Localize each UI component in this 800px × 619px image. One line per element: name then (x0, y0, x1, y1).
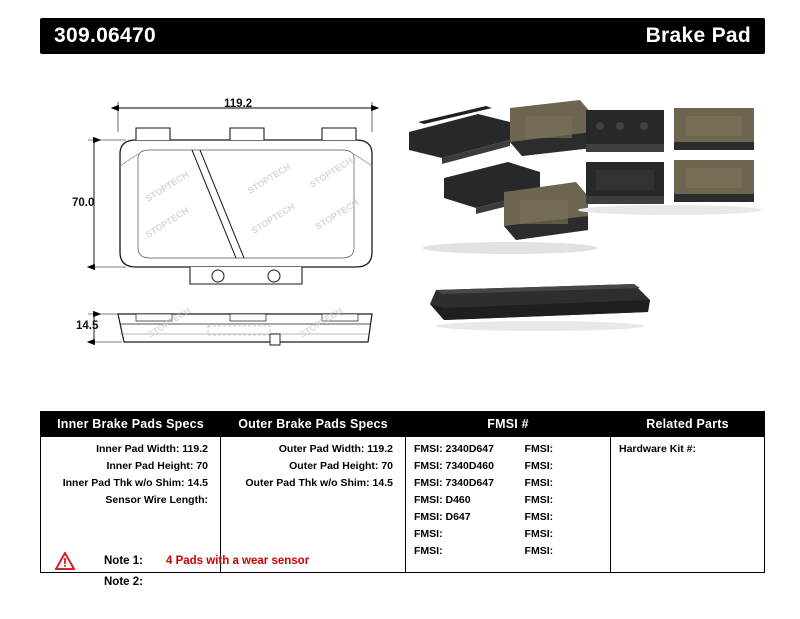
spec-line: Outer Pad Thk w/o Shim: 14.5 (227, 477, 399, 489)
header-bar: 309.06470 Brake Pad (40, 18, 765, 54)
pad-photo-group-left (409, 100, 598, 254)
hardware-kit-line: Hardware Kit #: (611, 443, 764, 455)
fmsi-left-value: FMSI: 7340D647 (406, 477, 517, 489)
fmsi-row: FMSI: 7340D647 FMSI: (406, 477, 610, 489)
spec-line: Inner Pad Width: 119.2 (47, 443, 214, 455)
fmsi-column: FMSI # FMSI: 2340D647 FMSI: FMSI: 7340D4… (406, 412, 611, 572)
note-row-1: Note 1: 4 Pads with a wear sensor (40, 550, 540, 571)
spec-line: Outer Pad Width: 119.2 (227, 443, 399, 455)
note-row-2: Note 2: (40, 571, 540, 592)
related-parts-body: Hardware Kit #: (611, 437, 764, 571)
fmsi-right-value: FMSI: (517, 460, 610, 472)
outer-pads-column: Outer Brake Pads Specs Outer Pad Width: … (221, 412, 406, 572)
dimension-height-label: 70.0 (72, 197, 94, 209)
spec-line: Outer Pad Height: 70 (227, 460, 399, 472)
pad-photo-group-right (578, 108, 762, 215)
page-title: Brake Pad (646, 24, 751, 48)
warning-icon (52, 552, 78, 570)
fmsi-heading: FMSI # (406, 412, 610, 437)
fmsi-row: FMSI: FMSI: (406, 528, 610, 540)
fmsi-row: FMSI: D460 FMSI: (406, 494, 610, 506)
spec-line: Sensor Wire Length: (47, 494, 214, 506)
drawing-area: 119.2 70.0 14.5 (40, 62, 765, 392)
dimension-thickness-label: 14.5 (76, 320, 98, 332)
fmsi-row: FMSI: 2340D647 FMSI: (406, 443, 610, 455)
specs-table: Inner Brake Pads Specs Inner Pad Width: … (40, 411, 765, 573)
related-parts-heading: Related Parts (611, 412, 764, 437)
dimension-width-label: 119.2 (224, 98, 252, 110)
fmsi-row: FMSI: D647 FMSI: (406, 511, 610, 523)
spec-line: Inner Pad Thk w/o Shim: 14.5 (47, 477, 214, 489)
fmsi-right-value: FMSI: (517, 443, 610, 455)
fmsi-left-value: FMSI: 2340D647 (406, 443, 517, 455)
fmsi-left-value: FMSI: 7340D460 (406, 460, 517, 472)
fmsi-right-value: FMSI: (517, 477, 610, 489)
related-parts-column: Related Parts Hardware Kit #: (611, 412, 764, 572)
fmsi-left-value: FMSI: D647 (406, 511, 517, 523)
part-number: 309.06470 (54, 24, 156, 48)
pad-photo-edge (430, 284, 650, 331)
technical-drawing: STOPTECH STOPTECH STOPTECH STOPTECH STOP… (40, 62, 765, 392)
fmsi-right-value: FMSI: (517, 528, 610, 540)
fmsi-left-value: FMSI: D460 (406, 494, 517, 506)
outer-pads-heading: Outer Brake Pads Specs (221, 412, 405, 437)
fmsi-right-value: FMSI: (517, 511, 610, 523)
note-2-label: Note 2: (104, 576, 162, 588)
fmsi-right-value: FMSI: (517, 494, 610, 506)
spec-line: Inner Pad Height: 70 (47, 460, 214, 472)
inner-pads-heading: Inner Brake Pads Specs (41, 412, 220, 437)
note-1-text: 4 Pads with a wear sensor (166, 555, 309, 567)
fmsi-left-value: FMSI: (406, 528, 517, 540)
note-1-label: Note 1: (104, 555, 162, 567)
fmsi-row: FMSI: 7340D460 FMSI: (406, 460, 610, 472)
inner-pads-column: Inner Brake Pads Specs Inner Pad Width: … (41, 412, 221, 572)
notes-section: Note 1: 4 Pads with a wear sensor Note 2… (40, 550, 540, 592)
